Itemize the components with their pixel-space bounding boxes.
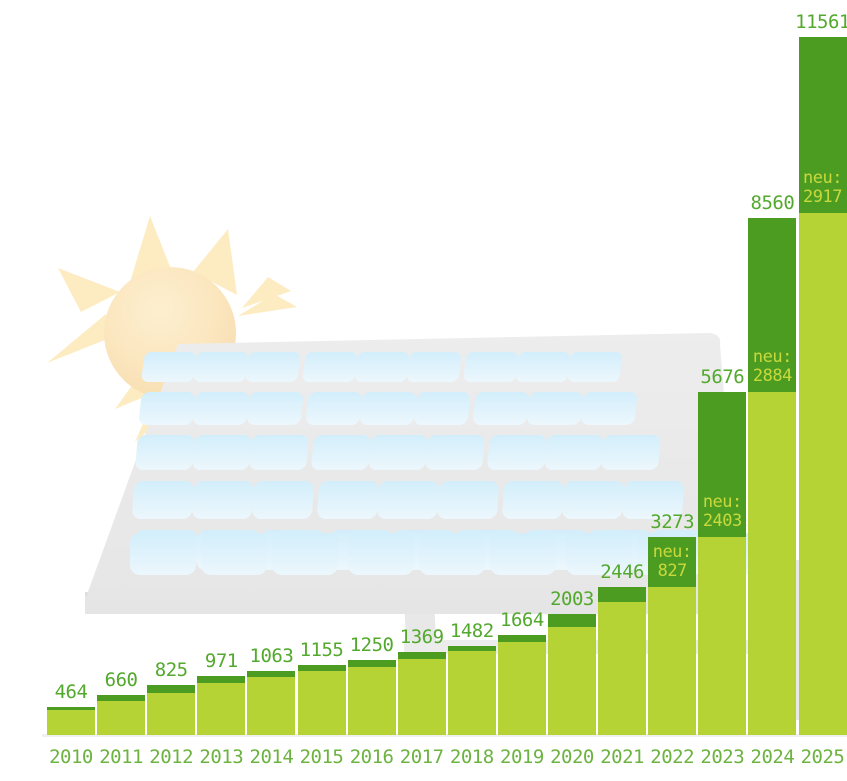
bar-2021[interactable] [598,587,646,735]
bar-segment-neu-2020 [548,614,596,627]
bar-segment-bestand-2010 [47,710,95,735]
bar-segment-bestand-2022 [648,587,696,735]
bar-segment-neu-2018 [448,646,496,651]
bar-2018[interactable] [448,646,496,735]
bar-segment-neu-2022: neu:827 [648,537,696,587]
bar-segment-bestand-2017 [398,659,446,735]
neu-prefix-2024: neu: [748,348,796,367]
neu-prefix-2023: neu: [698,493,746,512]
bar-2015[interactable] [298,665,346,735]
bar-segment-neu-2019 [498,635,546,642]
bar-segment-neu-2025: neu:2917 [799,37,847,213]
neu-label-2022: neu:827 [648,543,696,581]
bar-segment-bestand-2021 [598,602,646,735]
neu-prefix-2025: neu: [799,169,847,188]
bar-segment-neu-2010 [47,707,95,710]
bar-2011[interactable] [97,695,145,735]
x-tick-2025: 2025 [784,746,847,768]
neu-label-2025: neu:2917 [799,169,847,207]
bar-2012[interactable] [147,685,195,735]
bar-segment-bestand-2025 [799,213,847,735]
bar-segment-neu-2021 [598,587,646,602]
bar-segment-bestand-2019 [498,642,546,735]
bar-segment-neu-2024: neu:2884 [748,218,796,392]
neu-value-2022: 827 [648,562,696,581]
bar-segment-bestand-2018 [448,651,496,735]
bar-segment-bestand-2016 [348,667,396,735]
value-label-2025: 11561 [784,11,847,33]
bar-segment-bestand-2013 [197,683,245,735]
bar-2017[interactable] [398,652,446,735]
neu-value-2025: 2917 [799,188,847,207]
bar-2025[interactable]: neu:2917 [799,37,847,735]
bar-segment-bestand-2020 [548,627,596,735]
neu-prefix-2022: neu: [648,543,696,562]
bar-segment-neu-2015 [298,665,346,671]
bar-2014[interactable] [247,671,295,735]
bar-segment-bestand-2015 [298,671,346,735]
bar-2024[interactable]: neu:2884 [748,218,796,735]
bar-2019[interactable] [498,635,546,735]
bar-segment-bestand-2024 [748,392,796,735]
bar-chart: 4646608259711063115512501369148216642003… [0,0,847,781]
bar-2010[interactable] [47,707,95,735]
chart-canvas: 4646608259711063115512501369148216642003… [0,0,847,781]
bar-2023[interactable]: neu:2403 [698,392,746,735]
neu-label-2023: neu:2403 [698,493,746,531]
bar-segment-bestand-2014 [247,677,295,735]
bar-2016[interactable] [348,660,396,735]
bar-segment-neu-2012 [147,685,195,693]
bar-segment-neu-2023: neu:2403 [698,392,746,537]
bar-segment-bestand-2023 [698,537,746,735]
bar-segment-bestand-2012 [147,693,195,735]
bar-segment-neu-2013 [197,676,245,683]
bar-segment-neu-2016 [348,660,396,668]
neu-label-2024: neu:2884 [748,348,796,386]
bar-segment-neu-2017 [398,652,446,658]
bar-2013[interactable] [197,676,245,735]
bar-segment-neu-2014 [247,671,295,677]
bar-2020[interactable] [548,614,596,735]
bar-segment-neu-2011 [97,695,145,701]
neu-value-2023: 2403 [698,512,746,531]
neu-value-2024: 2884 [748,367,796,386]
bar-segment-bestand-2011 [97,701,145,735]
bar-2022[interactable]: neu:827 [648,537,696,735]
